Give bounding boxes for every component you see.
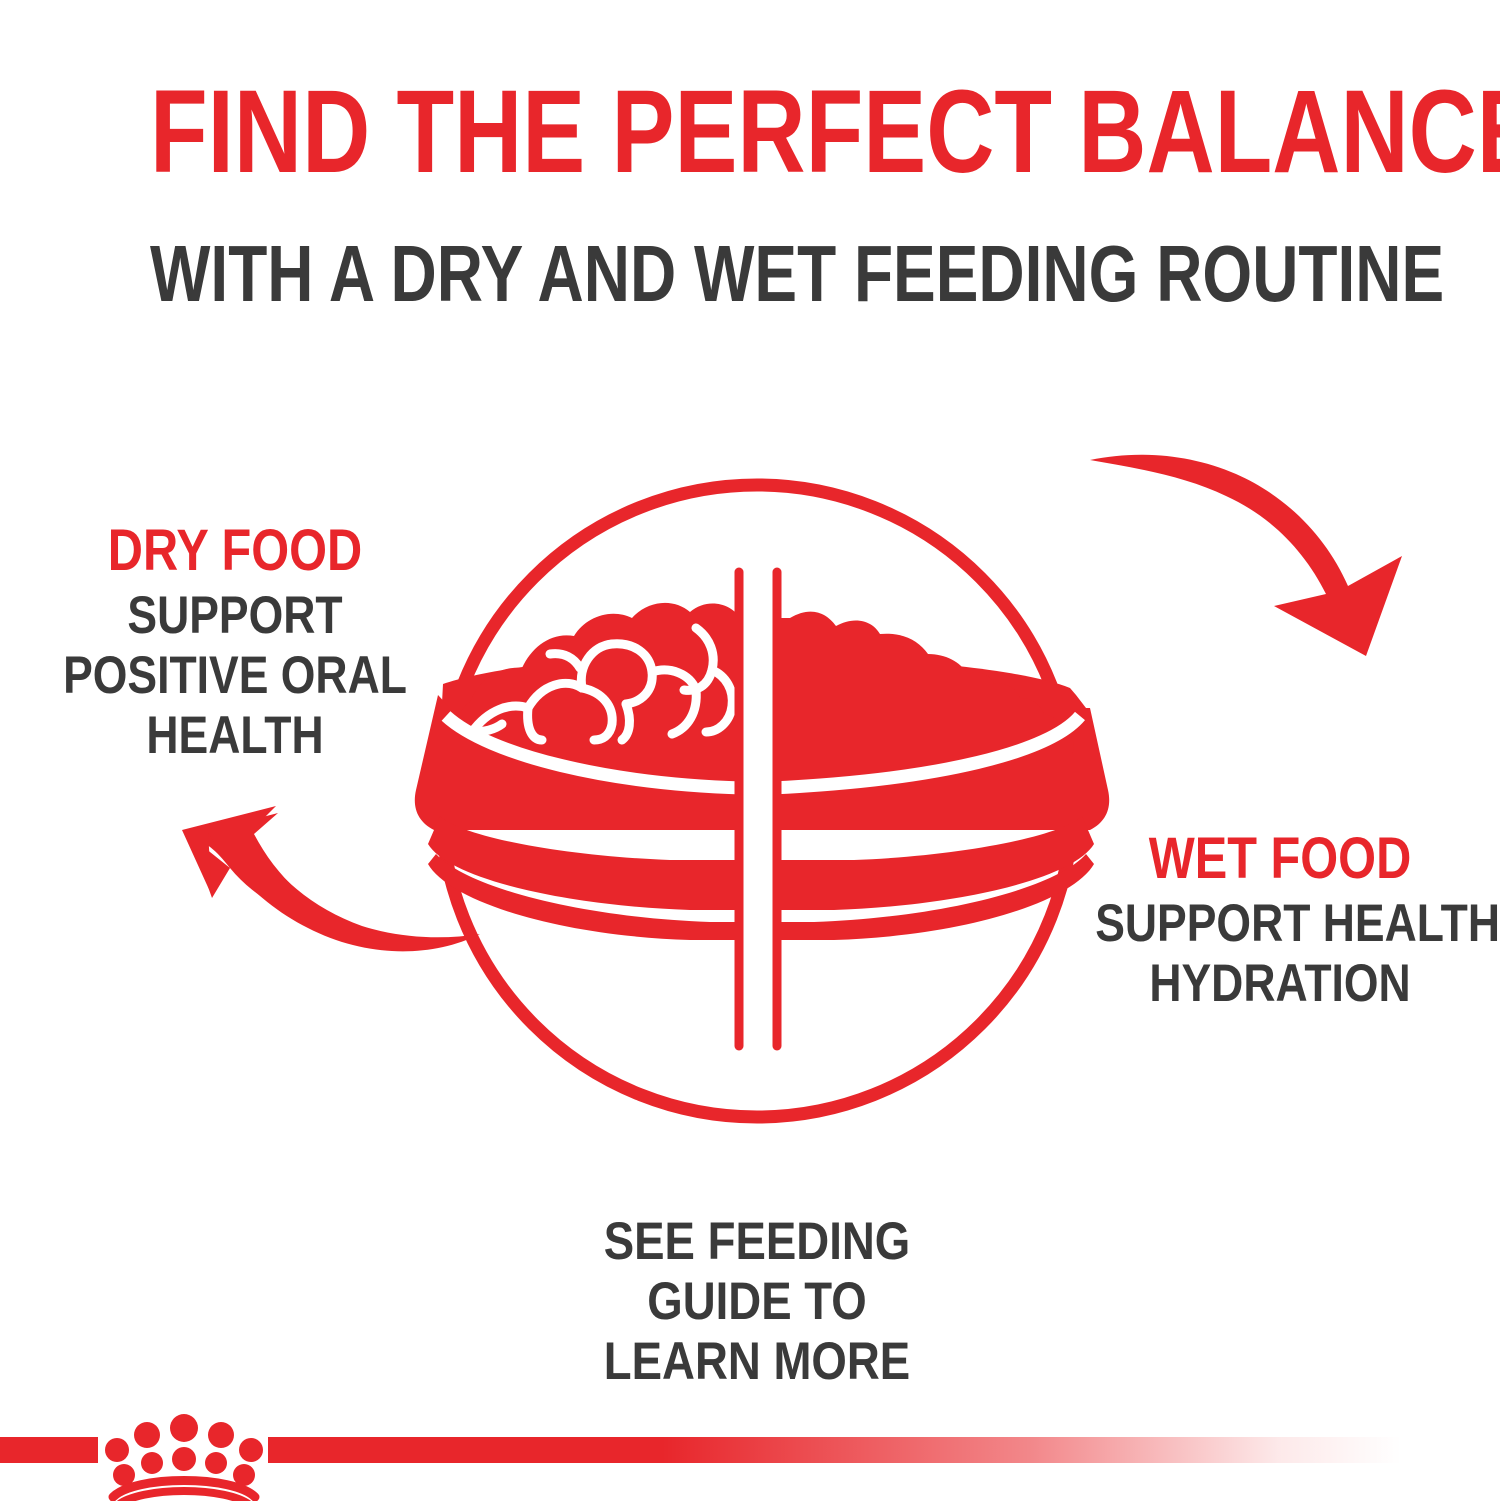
page-title: FIND THE PERFECT BALANCE <box>150 72 1350 192</box>
curved-arrow-down-right <box>1090 455 1402 656</box>
brand-rule-left <box>0 1437 98 1463</box>
royal-canin-crown-logo <box>95 1413 273 1501</box>
feeding-routine-diagram <box>150 440 1410 1160</box>
poster-canvas: FIND THE PERFECT BALANCE WITH A DRY AND … <box>0 0 1500 1500</box>
feeding-guide-caption: SEE FEEDING GUIDE TO LEARN MORE <box>542 1212 972 1392</box>
caption-line-2: GUIDE TO <box>542 1272 972 1332</box>
caption-line-3: LEARN MORE <box>542 1332 972 1392</box>
caption-line-1: SEE FEEDING <box>542 1212 972 1272</box>
page-subtitle: WITH A DRY AND WET FEEDING ROUTINE <box>150 232 1350 316</box>
divider-gap <box>743 560 773 1060</box>
footer <box>0 1415 1500 1500</box>
brand-rule-right <box>268 1437 1500 1463</box>
